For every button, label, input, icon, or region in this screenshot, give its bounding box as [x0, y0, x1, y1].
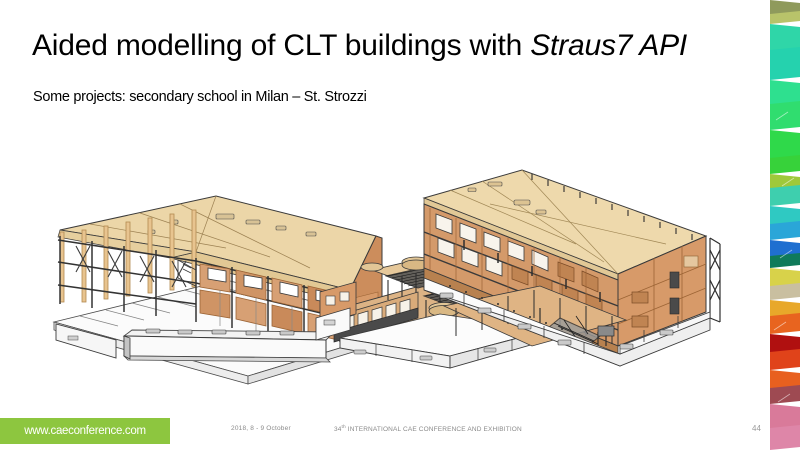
mosaic-tiles: [770, 0, 800, 450]
clt-building-3d-model-figure: [20, 140, 740, 390]
page-title-italic: Straus7 API: [530, 29, 687, 62]
clt-model-drawing: [20, 140, 740, 390]
footer-conference-label: INTERNATIONAL CAE CONFERENCE AND EXHIBIT…: [346, 426, 522, 433]
presentation-slide: Aided modelling of CLT buildings with St…: [0, 0, 800, 450]
footer-conference-title: 34th INTERNATIONAL CAE CONFERENCE AND EX…: [334, 425, 522, 433]
mosaic-tile: [770, 185, 800, 206]
mosaic-tile: [770, 349, 800, 370]
page-title: Aided modelling of CLT buildings with St…: [32, 28, 732, 64]
mosaic-tile: [770, 425, 800, 450]
mosaic-tile: [770, 385, 800, 404]
page-title-regular: Aided modelling of CLT buildings with: [32, 29, 530, 62]
page-subtitle: Some projects: secondary school in Milan…: [33, 88, 367, 106]
mosaic-tile: [770, 313, 800, 334]
footer-date: 2018, 8 - 9 October: [231, 425, 291, 432]
footer-website-link[interactable]: www.caeconference.com: [0, 418, 170, 444]
mosaic-tile: [770, 221, 800, 240]
page-number: 44: [752, 424, 761, 433]
mosaic-tile: [770, 47, 800, 80]
left-building: [54, 196, 412, 384]
colour-mosaic-strip: [770, 0, 800, 450]
footer-conference-ordinal: 34: [334, 426, 342, 433]
mosaic-tile: [770, 155, 800, 174]
mosaic-tile: [770, 101, 800, 130]
